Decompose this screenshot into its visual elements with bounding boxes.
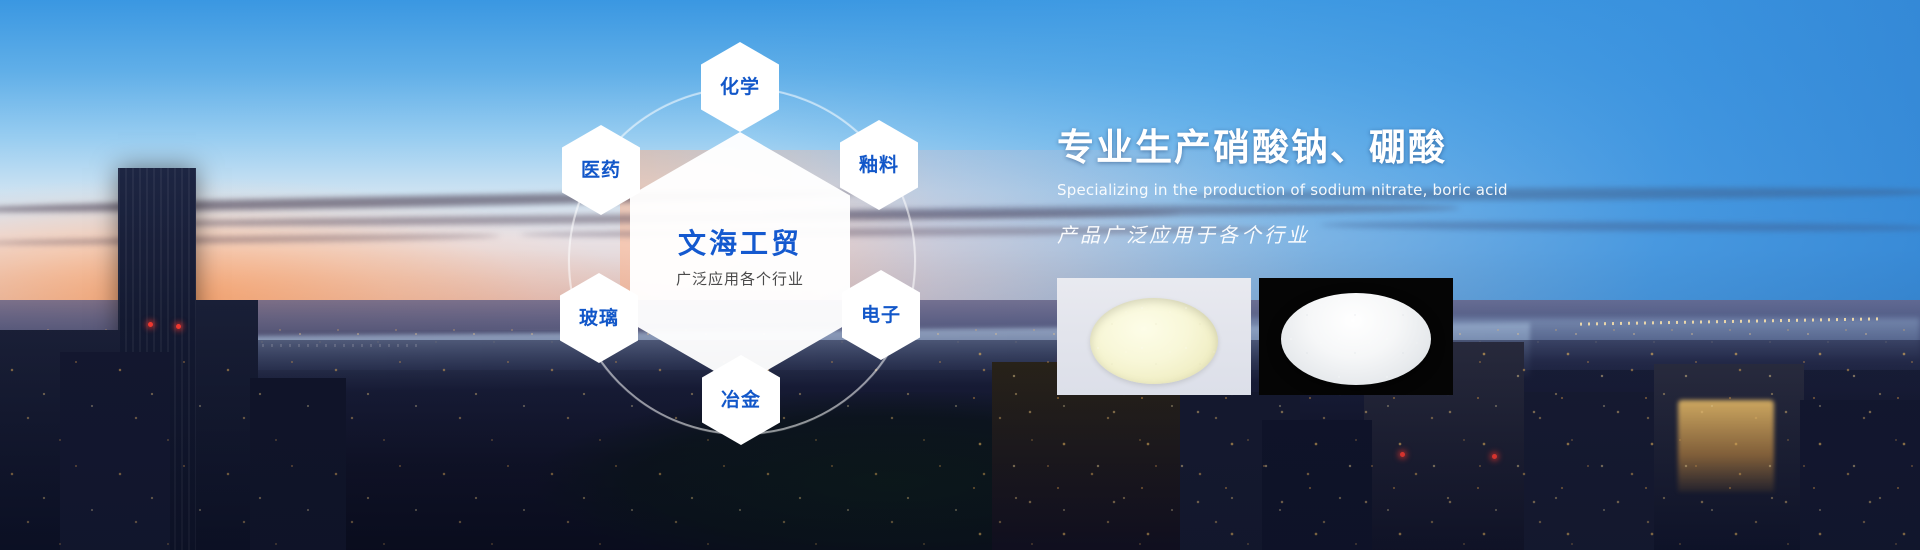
hexagon-node-label: 玻璃 [579,309,619,328]
company-name: 文海工贸 [678,229,802,260]
powder-pile [1090,298,1218,384]
hexagon-node-label: 冶金 [721,391,761,410]
tagline: 产品广泛应用于各个行业 [1057,219,1797,248]
hero-banner: 文海工贸 广泛应用各个行业 化学 釉料 电子 冶金 玻璃 医药 专业生产硝酸钠、… [0,0,1920,550]
background-cityscape [0,0,1920,550]
company-tagline: 广泛应用各个行业 [676,268,804,289]
product-photo-sodium-nitrate [1057,278,1251,395]
powder-grain-texture [1281,293,1431,385]
product-photos [1057,278,1453,395]
hexagon-node-label: 医药 [581,161,621,180]
headline-english: Specializing in the production of sodium… [1057,181,1797,199]
powder-grain-texture [1090,298,1218,384]
product-photo-boric-acid [1259,278,1453,395]
headline: 专业生产硝酸钠、硼酸 [1057,128,1797,169]
powder-pile [1281,293,1431,385]
hexagon-node-label: 电子 [861,306,901,325]
banner-copy: 专业生产硝酸钠、硼酸 Specializing in the productio… [1057,128,1797,248]
industry-hexagon-diagram: 文海工贸 广泛应用各个行业 化学 釉料 电子 冶金 玻璃 医药 [520,32,960,512]
color-haze-overlay [0,0,1920,550]
hexagon-node-label: 化学 [720,78,760,97]
hexagon-node-label: 釉料 [859,156,899,175]
